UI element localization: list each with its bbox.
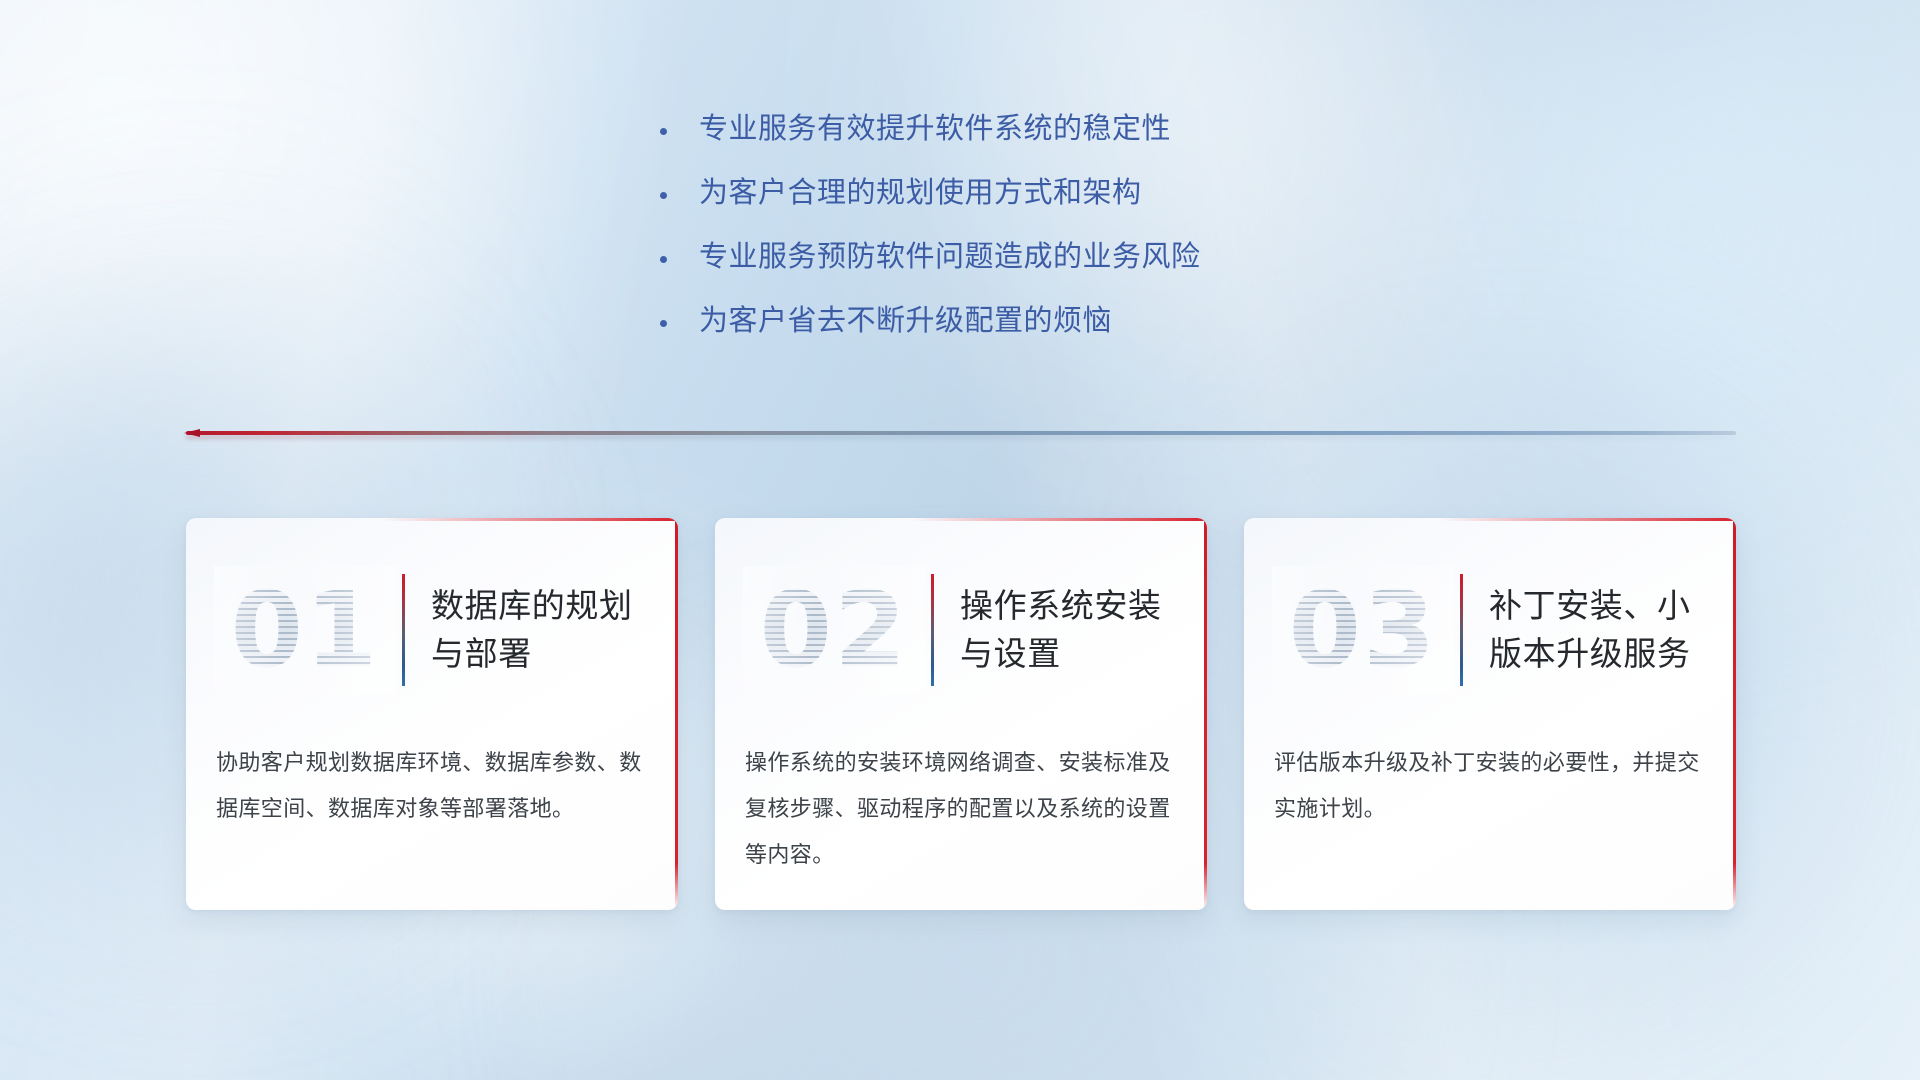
divider-shadow <box>186 435 1736 439</box>
bullet-text: 为客户省去不断升级配置的烦恼 <box>699 304 1112 338</box>
card-body-text: 评估版本升级及补丁安装的必要性，并提交实施计划。 <box>1274 740 1706 832</box>
bullet-dot-icon <box>660 128 667 135</box>
card-number-badge: 03 <box>1272 566 1454 694</box>
list-item: 专业服务预防软件问题造成的业务风险 <box>660 240 1420 304</box>
card-number: 02 <box>760 578 909 682</box>
bullet-dot-icon <box>660 192 667 199</box>
card-body-text: 协助客户规划数据库环境、数据库参数、数据库空间、数据库对象等部署落地。 <box>216 740 648 832</box>
card-header: 02 操作系统安装与设置 <box>715 562 1207 698</box>
service-card-03[interactable]: 03 补丁安装、小版本升级服务 评估版本升级及补丁安装的必要性，并提交实施计划。 <box>1244 518 1736 910</box>
divider-gradient-bar <box>186 431 1736 435</box>
bullet-text: 为客户合理的规划使用方式和架构 <box>699 176 1142 210</box>
service-card-grid: 01 数据库的规划与部署 协助客户规划数据库环境、数据库参数、数据库空间、数据库… <box>186 518 1736 918</box>
section-divider <box>186 428 1736 438</box>
card-number-badge: 01 <box>214 566 396 694</box>
card-accent-top-edge <box>912 518 1207 521</box>
card-title-divider <box>931 574 934 686</box>
card-accent-top-edge <box>383 518 678 521</box>
benefits-bullet-list: 专业服务有效提升软件系统的稳定性 为客户合理的规划使用方式和架构 专业服务预防软… <box>660 112 1420 368</box>
card-title-divider <box>1460 574 1463 686</box>
card-body-text: 操作系统的安装环境网络调查、安装标准及复核步骤、驱动程序的配置以及系统的设置等内… <box>745 740 1177 878</box>
list-item: 专业服务有效提升软件系统的稳定性 <box>660 112 1420 176</box>
card-number: 03 <box>1289 578 1438 682</box>
card-header: 01 数据库的规划与部署 <box>186 562 678 698</box>
bullet-dot-icon <box>660 256 667 263</box>
service-card-02[interactable]: 02 操作系统安装与设置 操作系统的安装环境网络调查、安装标准及复核步骤、驱动程… <box>715 518 1207 910</box>
card-number: 01 <box>231 578 380 682</box>
card-title: 操作系统安装与设置 <box>960 582 1207 678</box>
card-title-divider <box>402 574 405 686</box>
card-accent-top-edge <box>1441 518 1736 521</box>
service-card-01[interactable]: 01 数据库的规划与部署 协助客户规划数据库环境、数据库参数、数据库空间、数据库… <box>186 518 678 910</box>
card-title: 数据库的规划与部署 <box>431 582 678 678</box>
list-item: 为客户合理的规划使用方式和架构 <box>660 176 1420 240</box>
bullet-text: 专业服务有效提升软件系统的稳定性 <box>699 112 1171 146</box>
bullet-text: 专业服务预防软件问题造成的业务风险 <box>699 240 1201 274</box>
card-header: 03 补丁安装、小版本升级服务 <box>1244 562 1736 698</box>
bullet-dot-icon <box>660 320 667 327</box>
card-title: 补丁安装、小版本升级服务 <box>1489 582 1736 678</box>
list-item: 为客户省去不断升级配置的烦恼 <box>660 304 1420 368</box>
card-number-badge: 02 <box>743 566 925 694</box>
